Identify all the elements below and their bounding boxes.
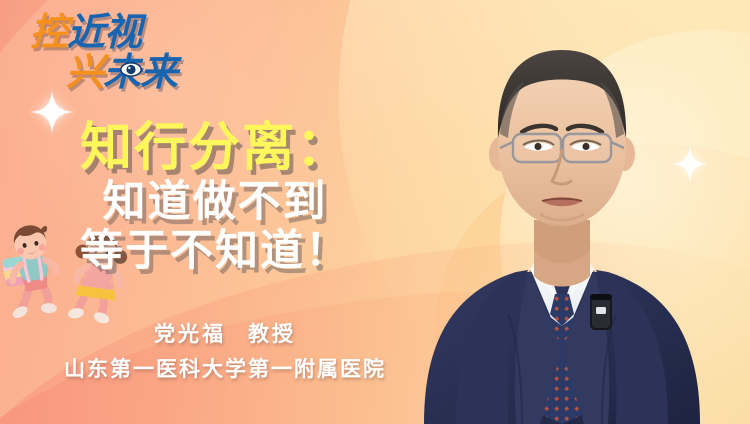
speaker-name-row: 党光福教授	[0, 318, 450, 348]
logo-char-kong: 控	[30, 12, 67, 54]
poster-canvas: 控近视 兴未来	[0, 0, 750, 424]
logo-char-xing: 兴	[66, 52, 103, 94]
headline-block: 知行分离： 知道做不到 等于不知道！	[0, 122, 430, 279]
speaker-title: 教授	[248, 323, 296, 346]
lapel-microphone	[590, 294, 612, 330]
eye-icon	[120, 62, 142, 77]
speaker-name: 党光福	[154, 323, 226, 346]
speaker-organization: 山东第一医科大学第一附属医院	[0, 353, 450, 383]
speaker-portrait	[412, 14, 712, 424]
speaker-credit-block: 党光福教授 山东第一医科大学第一附属医院	[0, 318, 450, 383]
program-logo: 控近视 兴未来	[24, 12, 224, 104]
headline-line-1: 知行分离：	[0, 122, 430, 175]
logo-line-1: 控近视	[30, 14, 141, 52]
headline-line-3: 等于不知道！	[0, 230, 430, 274]
headline-line-2: 知道做不到	[0, 181, 430, 225]
logo-word-jinshi: 近视	[67, 12, 141, 54]
